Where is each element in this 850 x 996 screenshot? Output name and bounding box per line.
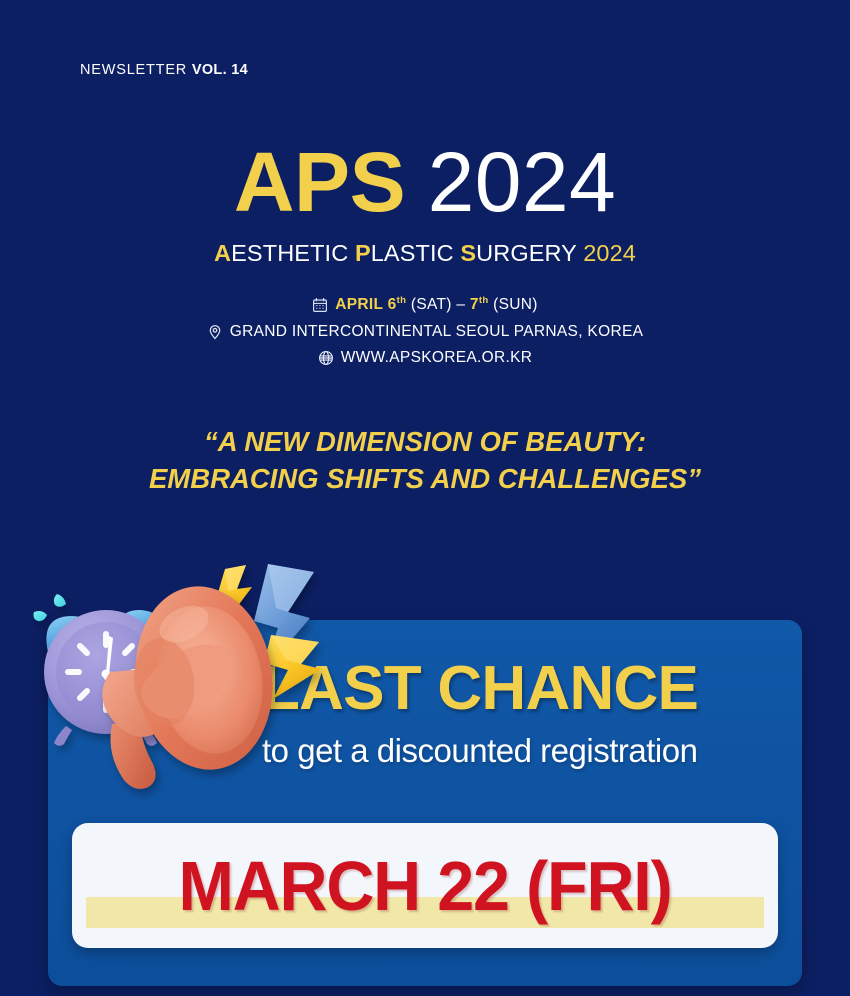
event-date-row: APRIL 6th (SAT) – 7th (SUN) [0,296,850,314]
subtitle-p: P [355,240,371,266]
date-day-one: (SAT) – [406,296,470,313]
deadline-date-box: MARCH 22 (FRI) [72,823,778,948]
event-date: APRIL 6th (SAT) – 7th (SUN) [335,296,538,314]
event-logo: APS 2024 AESTHETIC PLASTIC SURGERY 2024 [0,140,850,267]
subtitle-year: 2024 [583,240,636,266]
date-day-two: (SUN) [489,296,538,313]
slogan-line-2: EMBRACING SHIFTS AND CHALLENGES” [0,461,850,498]
logo-wordmark: APS 2024 [0,140,850,224]
logo-acronym: APS [234,135,405,229]
subtitle-esthetic: ESTHETIC [231,240,355,266]
calendar-icon [312,297,328,313]
event-website-row[interactable]: WWW.APSKOREA.OR.KR [0,349,850,367]
promo-illustration [14,556,344,826]
location-pin-icon [207,324,223,340]
newsletter-volume-label: NEWSLETTER VOL. 14 [80,62,248,78]
date-ordinal-2: th [479,295,489,306]
event-venue-row: GRAND INTERCONTINENTAL SEOUL PARNAS, KOR… [0,323,850,341]
subtitle-lastic: LASTIC [371,240,461,266]
deadline-date: MARCH 22 (FRI) [90,823,761,948]
subtitle-a: A [214,240,231,266]
date-ordinal-1: th [397,295,407,306]
date-month-day: APRIL 6 [335,296,396,313]
event-details: APRIL 6th (SAT) – 7th (SUN) GRAND INTERC… [0,296,850,376]
subtitle-urgery: URGERY [476,240,583,266]
volume-number: VOL. 14 [192,62,248,78]
globe-icon [318,350,334,366]
newsletter-word: NEWSLETTER [80,62,187,78]
venue-name: GRAND INTERCONTINENTAL SEOUL PARNAS, KOR… [230,323,644,341]
website-url[interactable]: WWW.APSKOREA.OR.KR [341,349,533,367]
megaphone-icon [102,577,284,788]
subtitle-s: S [460,240,476,266]
slogan-line-1: “A NEW DIMENSION OF BEAUTY: [0,424,850,461]
logo-subtitle: AESTHETIC PLASTIC SURGERY 2024 [0,240,850,267]
date-second-day: 7 [470,296,479,313]
event-slogan: “A NEW DIMENSION OF BEAUTY: EMBRACING SH… [0,424,850,497]
logo-year: 2024 [428,135,617,229]
